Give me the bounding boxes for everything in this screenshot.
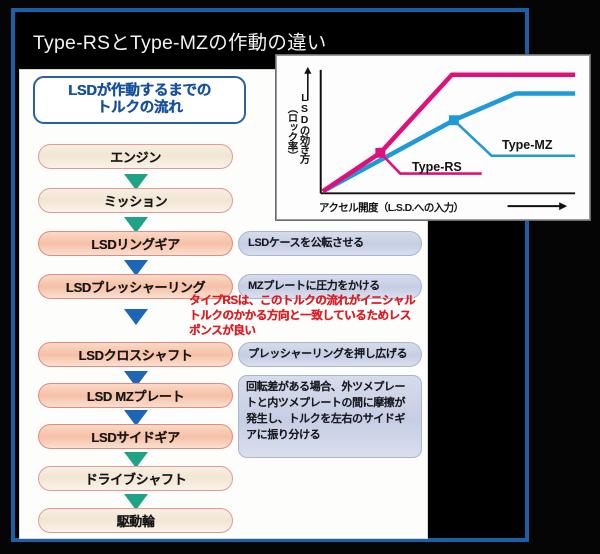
flow-note-text: プレッシャーリングを押し広げる — [248, 347, 407, 363]
series-marker-type-rs — [375, 148, 385, 158]
flow-step-drive-shaft[interactable]: ドライブシャフト — [38, 466, 233, 491]
series-label-type-rs: Type-RS — [412, 160, 462, 174]
flow-step-label: 駆動輪 — [116, 511, 154, 530]
flow-step-label: LSDプレッシャーリング — [66, 277, 205, 296]
flow-step-engine[interactable]: エンジン — [38, 144, 233, 169]
series-marker-type-mz — [449, 115, 459, 125]
flow-annotation-text: タイプRSは、このトルクの流れがイニシャルトルクのかかる方向と一致しているためレ… — [189, 295, 415, 337]
slide-title-bar: Type-RSとType-MZの作動の違い — [33, 22, 513, 58]
flow-heading-text: LSDが作動するまでの トルクの流れ — [68, 83, 211, 117]
flow-step-label: LSDサイドギア — [91, 427, 180, 446]
screenshot-root: Type-RSとType-MZの作動の違い LSDが作動するまでの トルクの流れ… — [0, 0, 600, 554]
torque-response-chart: LSDの効き方 （ロック率） アクセル開度（L.S.D.への入力） Type-R… — [276, 55, 590, 220]
y-axis-sublabel: （ロック率） — [287, 103, 298, 160]
flow-note-lsd-mz-plate: 回転差がある場合、外ツメプレートと内ツメプレートの間に摩擦が発生し、トルクを左右… — [238, 375, 422, 458]
flow-step-label: LSDクロスシャフト — [78, 345, 192, 364]
flow-step-lsd-side-gear[interactable]: LSDサイドギア — [38, 424, 233, 449]
flow-heading-box: LSDが作動するまでの トルクの流れ — [33, 76, 246, 124]
x-axis-arrow-icon — [508, 202, 568, 210]
y-axis-label: LSDの効き方 — [299, 92, 310, 163]
series-label-type-mz: Type-MZ — [502, 138, 552, 152]
flow-step-lsd-mz-plate[interactable]: LSD MZプレート — [38, 383, 233, 408]
flow-heading-line1: LSDが作動するまでの — [68, 83, 211, 99]
flow-note-text: MZプレートに圧力をかける — [248, 279, 380, 295]
flow-annotation-type-rs: タイプRSは、このトルクの流れがイニシャルトルクのかかる方向と一致しているためレ… — [189, 294, 421, 340]
flow-step-label: エンジン — [110, 147, 161, 166]
flow-heading-line2: トルクの流れ — [97, 100, 183, 116]
page-title: Type-RSとType-MZの作動の違い — [33, 26, 326, 55]
flow-step-transmission[interactable]: ミッション — [38, 188, 233, 213]
flow-step-label: ミッション — [104, 191, 168, 210]
flow-note-lsd-cross-shaft: プレッシャーリングを押し広げる — [238, 342, 422, 367]
flow-note-lsd-ring-gear: LSDケースを公転させる — [238, 231, 422, 256]
x-axis-label: アクセル開度（L.S.D.への入力） — [319, 200, 463, 215]
flow-note-text: LSDケースを公転させる — [248, 236, 364, 252]
flow-step-lsd-ring-gear[interactable]: LSDリングギア — [38, 231, 233, 256]
flow-step-label: LSD MZプレート — [87, 386, 184, 405]
flow-note-text: 回転差がある場合、外ツメプレートと内ツメプレートの間に摩擦が発生し、トルクを左右… — [246, 381, 405, 441]
flow-step-drive-wheel[interactable]: 駆動輪 — [38, 508, 233, 533]
flow-step-label: ドライブシャフト — [85, 469, 187, 488]
flow-step-lsd-cross-shaft[interactable]: LSDクロスシャフト — [38, 342, 233, 367]
flow-step-label: LSDリングギア — [91, 234, 180, 253]
arrow-down-icon — [124, 309, 148, 325]
